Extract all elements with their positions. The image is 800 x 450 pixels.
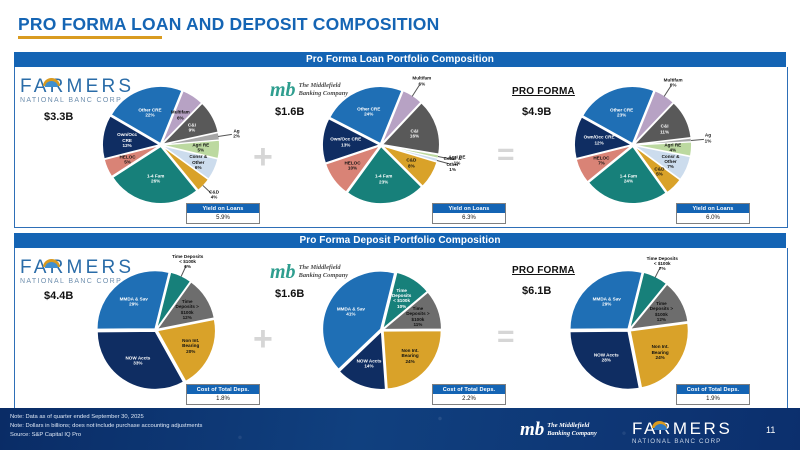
pie-chart-loan-proforma: Multifam6%C&I11%Ag1%Agri RE4%Consr &Othe… xyxy=(570,82,696,208)
section-band-loan: Pro Forma Loan Portfolio Composition xyxy=(14,52,786,67)
farmers-subtitle: NATIONAL BANC CORP xyxy=(632,438,750,445)
farmers-wordmark: FARMERS xyxy=(632,420,750,437)
pie-chart-loan-farmers: Multifam6%C&I9%Ag2%Agri RE5%Consr &Other… xyxy=(98,82,224,208)
footnote-line-2: Note: Dollars in billions; does not incl… xyxy=(10,422,202,431)
plus-operator-loan: + xyxy=(253,140,273,174)
slide-root: PRO FORMA LOAN AND DEPOSIT COMPOSITION P… xyxy=(0,0,800,450)
metric-box-loan-proforma-value: 6.0% xyxy=(677,213,749,223)
slide-footer: Note: Data as of quarter ended September… xyxy=(0,408,800,450)
metric-box-dep-mb-label: Cost of Total Deps. xyxy=(433,385,505,394)
metric-box-dep-farmers-value: 1.8% xyxy=(187,394,259,404)
title-underline-rule xyxy=(18,36,162,39)
page-title: PRO FORMA LOAN AND DEPOSIT COMPOSITION xyxy=(18,14,439,35)
pie-chart-deposit-proforma: Time Deposits< $100k7%TimeDeposits >$100… xyxy=(565,266,693,394)
metric-box-loan-farmers: Yield on Loans 5.9% xyxy=(186,203,260,224)
metric-box-dep-mb: Cost of Total Deps. 2.2% xyxy=(432,384,506,405)
section-band-deposit: Pro Forma Deposit Portfolio Composition xyxy=(14,233,786,248)
pie-chart-deposit-mb: TimeDeposits< $100k10%TimeDeposits >$100… xyxy=(318,266,446,394)
pie-slice xyxy=(383,331,441,389)
loan-proforma-heading: PRO FORMA xyxy=(512,86,575,97)
footer-farmers-logo: FARMERS NATIONAL BANC CORP xyxy=(632,420,750,445)
pie-slice xyxy=(570,331,639,389)
metric-box-dep-mb-value: 2.2% xyxy=(433,394,505,404)
dep-mb-total: $1.6B xyxy=(275,288,304,300)
metric-box-loan-mb: Yield on Loans 6.3% xyxy=(432,203,506,224)
mb-wordmark: mb xyxy=(270,262,296,282)
pie-chart-loan-mb: Multifam6%C&I16%Agri RE1%Consr &Other1%C… xyxy=(318,82,444,208)
loan-proforma-total: $4.9B xyxy=(522,106,551,118)
footnote-line-3: Source: S&P Capital IQ Pro xyxy=(10,431,202,440)
equals-operator-loan: = xyxy=(497,140,515,170)
metric-box-loan-proforma: Yield on Loans 6.0% xyxy=(676,203,750,224)
mb-tagline-line1: The Middlefield xyxy=(547,422,597,430)
loan-farmers-total: $3.3B xyxy=(44,111,73,123)
metric-box-loan-farmers-label: Yield on Loans xyxy=(187,204,259,213)
dep-farmers-total: $4.4B xyxy=(44,290,73,302)
plus-operator-deposit: + xyxy=(253,322,273,356)
page-number: 11 xyxy=(766,425,775,435)
metric-box-dep-proforma: Cost of Total Deps. 1.9% xyxy=(676,384,750,405)
pie-slice xyxy=(630,323,688,388)
metric-box-dep-farmers: Cost of Total Deps. 1.8% xyxy=(186,384,260,405)
farmers-arc-icon xyxy=(652,421,667,428)
metric-box-loan-proforma-label: Yield on Loans xyxy=(677,204,749,213)
mb-wordmark: mb xyxy=(270,80,296,100)
mb-wordmark: mb xyxy=(520,420,544,439)
mb-tagline-line2: Banking Company xyxy=(547,430,597,438)
section-band-loan-label: Pro Forma Loan Portfolio Composition xyxy=(306,54,494,65)
loan-mb-total: $1.6B xyxy=(275,106,304,118)
equals-operator-deposit: = xyxy=(497,322,515,352)
footer-mb-logo: mb The Middlefield Banking Company xyxy=(520,420,597,439)
metric-box-dep-proforma-label: Cost of Total Deps. xyxy=(677,385,749,394)
metric-box-loan-mb-label: Yield on Loans xyxy=(433,204,505,213)
section-band-deposit-label: Pro Forma Deposit Portfolio Composition xyxy=(299,235,500,246)
metric-box-loan-farmers-value: 5.9% xyxy=(187,213,259,223)
metric-box-dep-farmers-label: Cost of Total Deps. xyxy=(187,385,259,394)
footnote-line-1: Note: Data as of quarter ended September… xyxy=(10,413,202,422)
dep-proforma-total: $6.1B xyxy=(522,285,551,297)
metric-box-dep-proforma-value: 1.9% xyxy=(677,394,749,404)
footnotes: Note: Data as of quarter ended September… xyxy=(10,413,202,440)
mb-tagline: The Middlefield Banking Company xyxy=(547,422,597,438)
pie-chart-deposit-farmers: Time Deposits< $100k6%TimeDeposits >$100… xyxy=(92,266,220,394)
metric-box-loan-mb-value: 6.3% xyxy=(433,213,505,223)
